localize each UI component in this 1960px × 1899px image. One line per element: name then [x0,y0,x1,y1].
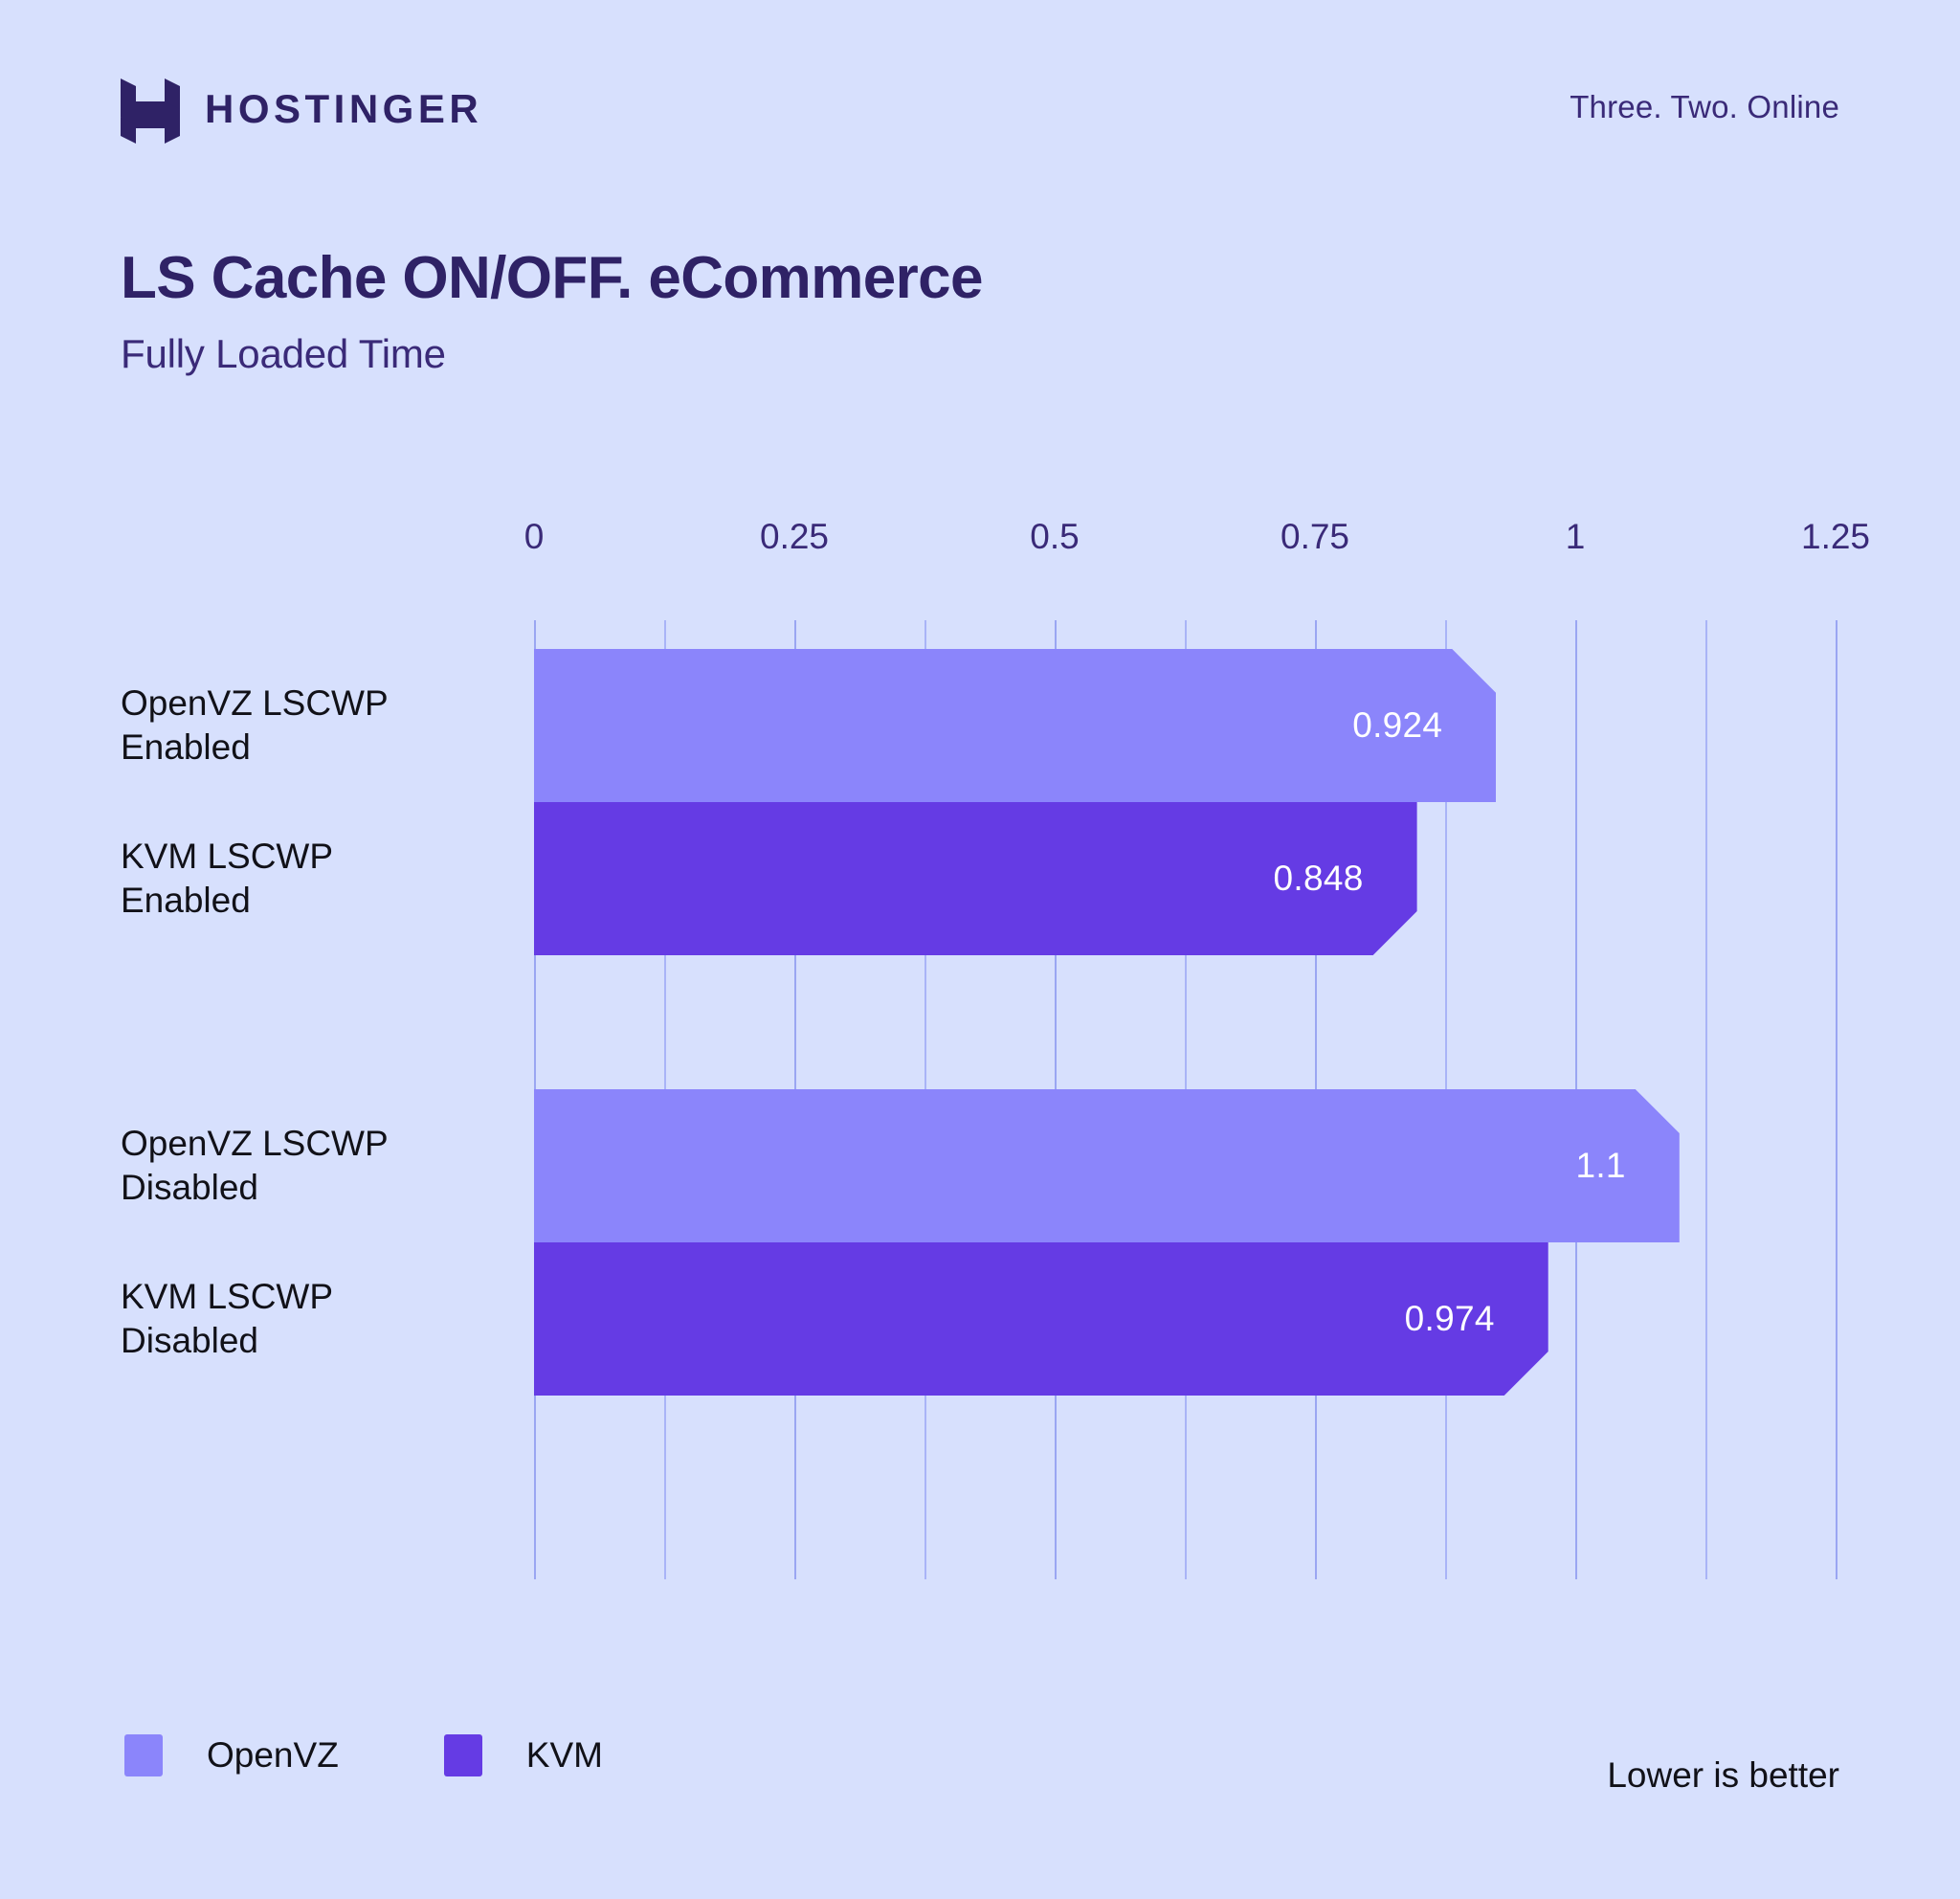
category-label: OpenVZ LSCWP Disabled [121,1122,503,1210]
category-label: OpenVZ LSCWP Enabled [121,681,503,770]
legend-item-kvm[interactable]: KVM [444,1734,603,1776]
legend-item-openvz[interactable]: OpenVZ [124,1734,339,1776]
brand-tagline: Three. Two. Online [1570,89,1839,125]
brand-wordmark: HOSTINGER [205,89,482,129]
x-axis-tick-labels: 00.250.50.7511.25 [0,517,1960,593]
chart-subtitle: Fully Loaded Time [121,332,1556,376]
category-label: KVM LSCWP Disabled [121,1275,503,1363]
chart-category-labels: OpenVZ LSCWP EnabledKVM LSCWP EnabledOpe… [0,620,1960,1579]
x-tick-label: 0.75 [1281,517,1349,557]
x-tick-label: 0 [524,517,545,557]
x-tick-label: 1.25 [1801,517,1870,557]
legend-footnote: Lower is better [1607,1755,1839,1796]
x-tick-label: 1 [1566,517,1586,557]
category-label: KVM LSCWP Enabled [121,835,503,923]
title-block: LS Cache ON/OFF. eCommerce Fully Loaded … [121,247,1556,376]
legend-items: OpenVZKVM [124,1734,603,1776]
x-tick-label: 0.25 [760,517,829,557]
chart-legend: OpenVZKVM Lower is better [0,1734,1960,1821]
legend-swatch-icon [124,1734,163,1776]
chart-plot-area: 00.250.50.7511.25 0.9240.8481.10.974 Ope… [0,517,1960,1598]
x-tick-label: 0.5 [1030,517,1079,557]
hostinger-h-logo-icon [121,75,180,144]
brand-lockup: HOSTINGER [121,75,482,144]
legend-swatch-icon [444,1734,482,1776]
legend-label: KVM [526,1735,603,1776]
page-header: HOSTINGER Three. Two. Online [0,0,1960,172]
chart-title: LS Cache ON/OFF. eCommerce [121,247,1556,311]
legend-label: OpenVZ [207,1735,339,1776]
